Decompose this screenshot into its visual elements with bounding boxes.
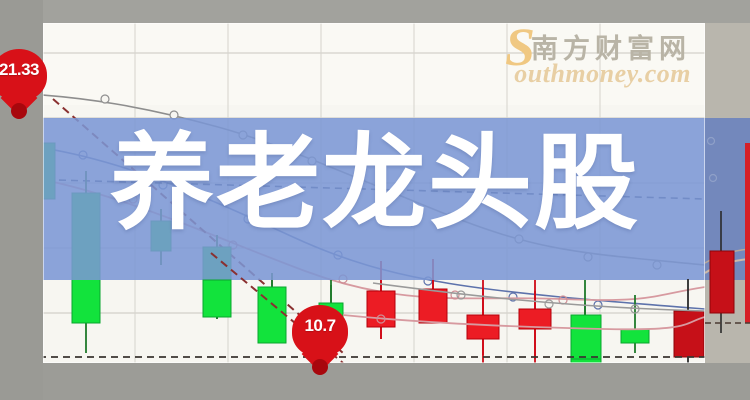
watermark-domain: outhmoney.com: [505, 61, 691, 87]
screenshot-stage: S 南方财富网 outhmoney.com 21.33 10.7 养老龙头股: [0, 0, 750, 400]
low-marker-knob: [312, 359, 328, 375]
high-marker-knob: [11, 103, 27, 119]
watermark: S 南方财富网 outhmoney.com: [505, 33, 691, 87]
low-marker-label: 10.7: [292, 316, 348, 336]
page-title: 养老龙头股: [0, 131, 750, 235]
page-backdrop-top: [0, 0, 750, 23]
low-marker[interactable]: 10.7: [292, 305, 348, 375]
high-marker[interactable]: 21.33: [0, 49, 47, 119]
candle: [203, 280, 231, 319]
high-marker-label: 21.33: [0, 60, 47, 80]
